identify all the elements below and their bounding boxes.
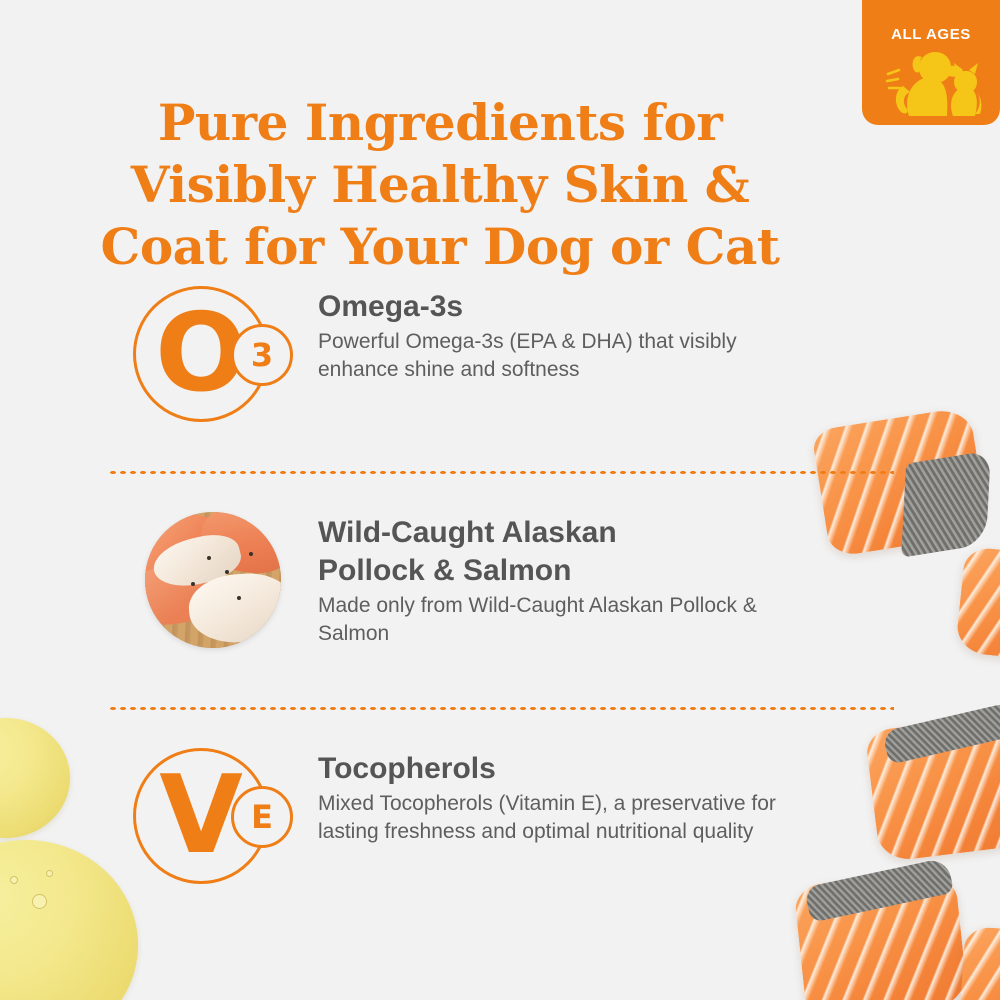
page-title-line-3: Coat for Your Dog or Cat	[0, 216, 880, 278]
feature-text-block: Omega-3s Powerful Omega-3s (EPA & DHA) t…	[318, 286, 898, 384]
feature-description: Mixed Tocopherols (Vitamin E), a preserv…	[318, 790, 798, 846]
roundel-sub-glyph: 3	[231, 324, 293, 386]
feature-row-wild-caught-fish: Wild-Caught Alaskan Pollock & Salmon Mad…	[108, 512, 898, 648]
feature-text-block: Wild-Caught Alaskan Pollock & Salmon Mad…	[318, 512, 898, 648]
vitamin-e-roundel-icon: V E	[133, 748, 293, 890]
all-ages-badge: ALL AGES	[862, 0, 1000, 125]
page-title-line-1: Pure Ingredients for	[0, 92, 880, 154]
oil-bubble	[10, 876, 18, 884]
feature-row-tocopherols: V E Tocopherols Mixed Tocopherols (Vitam…	[108, 748, 898, 890]
fish-fillets-photo	[145, 512, 281, 648]
dotted-divider	[108, 706, 894, 711]
roundel-sub-glyph: E	[231, 786, 293, 848]
feature-title: Tocopherols	[318, 750, 898, 788]
pepper-speck	[249, 552, 253, 556]
feature-icon-slot	[108, 512, 318, 648]
oil-bubble	[46, 870, 53, 877]
feature-description: Powerful Omega-3s (EPA & DHA) that visib…	[318, 328, 798, 384]
pepper-speck	[191, 582, 195, 586]
feature-title: Omega-3s	[318, 288, 898, 326]
all-ages-badge-label: ALL AGES	[862, 26, 1000, 43]
salmon-piece	[955, 546, 1000, 664]
pepper-speck	[225, 570, 229, 574]
feature-title: Wild-Caught Alaskan Pollock & Salmon	[318, 514, 718, 590]
omega-3-roundel-icon: O 3	[133, 286, 293, 428]
infographic-canvas: ALL AGES	[0, 0, 1000, 1000]
feature-description: Made only from Wild-Caught Alaskan Pollo…	[318, 592, 798, 648]
feature-text-block: Tocopherols Mixed Tocopherols (Vitamin E…	[318, 748, 898, 846]
feature-icon-slot: O 3	[108, 286, 318, 428]
salmon-skin	[882, 701, 1000, 765]
oil-droplet	[0, 718, 70, 838]
salmon-piece	[959, 926, 1000, 1000]
dog-and-cat-silhouette-icon	[879, 46, 983, 125]
pepper-speck	[207, 556, 211, 560]
salmon-skin	[901, 450, 991, 557]
feature-icon-slot: V E	[108, 748, 318, 890]
pepper-speck	[237, 596, 241, 600]
oil-bubble	[32, 894, 47, 909]
page-title: Pure Ingredients for Visibly Healthy Ski…	[0, 92, 880, 278]
dotted-divider	[108, 470, 894, 475]
feature-row-omega-3s: O 3 Omega-3s Powerful Omega-3s (EPA & DH…	[108, 286, 898, 428]
page-title-line-2: Visibly Healthy Skin &	[0, 154, 880, 216]
